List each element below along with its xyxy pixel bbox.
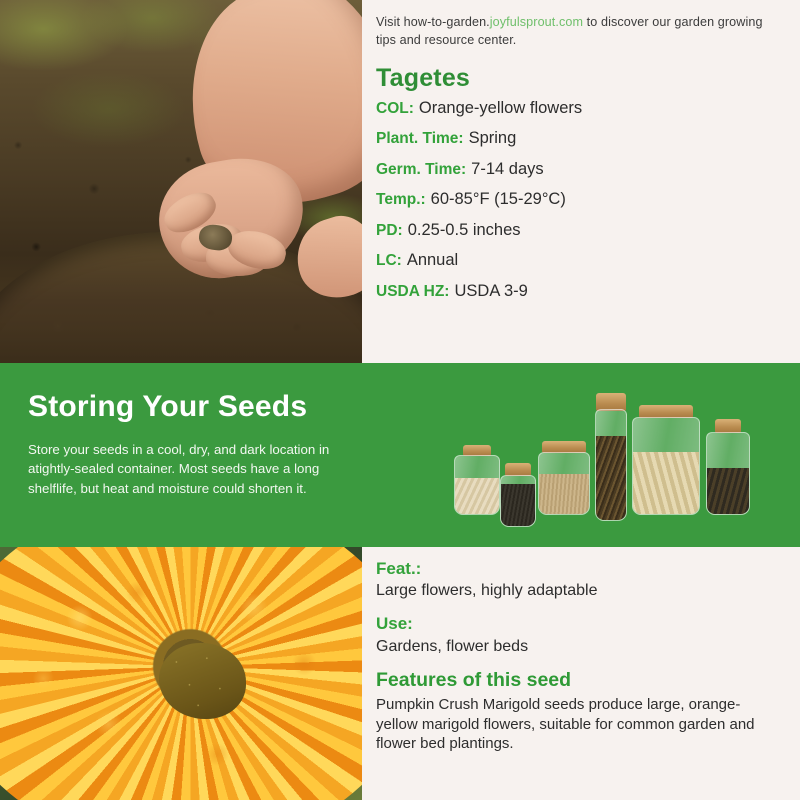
seed-jar [632,405,700,515]
spec-value: 0.25-0.5 inches [408,222,521,239]
storing-seeds-section: Storing Your Seeds Store your seeds in a… [0,363,800,547]
seed-jar [595,393,627,521]
spec-value: USDA 3-9 [454,283,527,300]
spec-value: Orange-yellow flowers [419,100,582,117]
specification-list: COL: Orange-yellow flowers Plant. Time: … [376,100,784,300]
spec-row-usda-hardiness-zone: USDA HZ: USDA 3-9 [376,283,784,300]
spec-key: Temp.: [376,192,426,208]
hand-sowing-seeds-photo [0,0,362,363]
specification-panel: Visit how-to-garden.joyfulsprout.com to … [362,0,800,363]
storing-seeds-title: Storing Your Seeds [28,390,307,424]
spec-value: Spring [469,130,517,147]
seed-jar [454,445,500,515]
spec-key: PD: [376,223,403,239]
use-value-text: Gardens, flower beds [376,637,782,657]
seed-jar [706,419,750,515]
flower-center-disc [159,643,246,719]
spec-value: 7-14 days [471,161,543,178]
seed-packet-infographic: Visit how-to-garden.joyfulsprout.com to … [0,0,800,800]
spec-row-temperature: Temp.: 60-85°F (15-29°C) [376,191,784,208]
brand-domain-link[interactable]: joyfulsprout.com [490,15,583,29]
spec-row-planting-time: Plant. Time: Spring [376,130,784,147]
spec-row-col: COL: Orange-yellow flowers [376,100,784,117]
top-section: Visit how-to-garden.joyfulsprout.com to … [0,0,800,363]
spec-value: Annual [407,252,458,269]
features-key-label: Feat.: [376,559,782,579]
visit-prefix-text: Visit how-to-garden. [376,15,490,29]
seed-jar [538,441,590,515]
use-key-label: Use: [376,614,782,634]
spec-key: USDA HZ: [376,284,449,300]
features-of-seed-body: Pumpkin Crush Marigold seeds produce lar… [376,695,780,754]
spec-value: 60-85°F (15-29°C) [431,191,566,208]
spec-row-germination-time: Germ. Time: 7-14 days [376,161,784,178]
seed-jars-illustration [448,381,788,531]
description-panel: Feat.: Large flowers, highly adaptable U… [362,547,800,800]
marigold-flower-photo [0,547,362,800]
bottom-section: Feat.: Large flowers, highly adaptable U… [0,547,800,800]
features-value-text: Large flowers, highly adaptable [376,581,782,601]
spec-row-life-cycle: LC: Annual [376,252,784,269]
visit-website-line: Visit how-to-garden.joyfulsprout.com to … [376,14,784,50]
spec-key: COL: [376,101,414,117]
spacer [376,601,782,614]
spec-key: Germ. Time: [376,162,466,178]
features-of-seed-heading: Features of this seed [376,669,782,692]
storing-seeds-body: Store your seeds in a cool, dry, and dar… [28,440,368,498]
seed-jar [500,463,536,527]
spec-key: Plant. Time: [376,131,464,147]
spec-key: LC: [376,253,402,269]
genus-title: Tagetes [376,64,784,93]
spec-row-planting-depth: PD: 0.25-0.5 inches [376,222,784,239]
